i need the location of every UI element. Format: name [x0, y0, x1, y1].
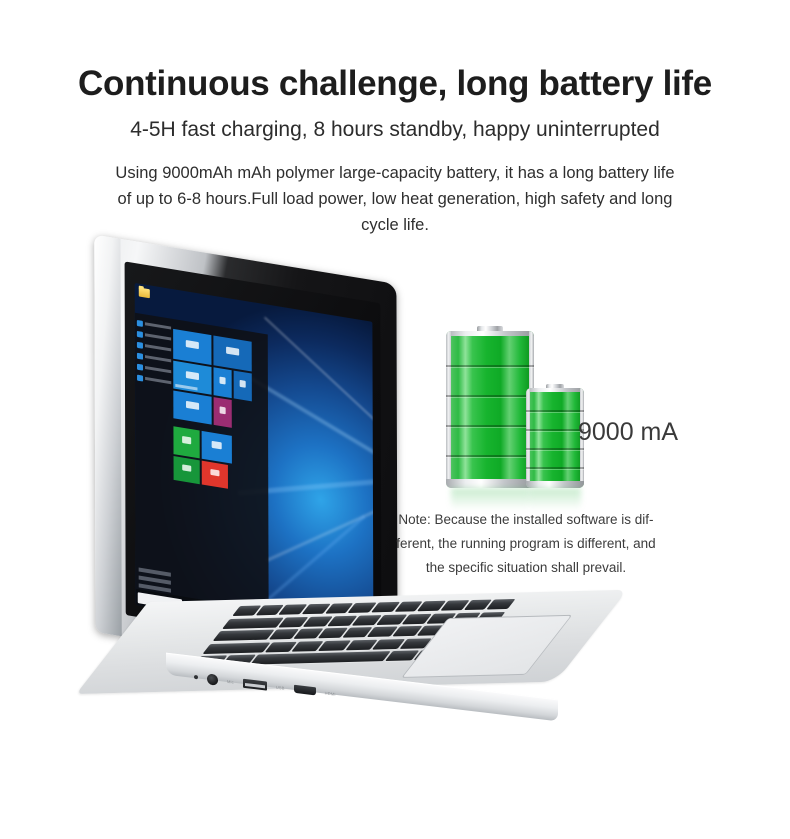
battery-reflection	[529, 488, 580, 510]
power-led-icon	[194, 675, 198, 679]
tile-cyan	[173, 361, 211, 395]
app-icon	[137, 363, 143, 370]
list-item	[137, 374, 171, 387]
app-icon	[137, 319, 143, 326]
laptop-screen	[135, 283, 374, 644]
lid-edge-rim	[94, 235, 121, 637]
tile-magenta	[214, 397, 232, 428]
battery-shell-left	[446, 331, 451, 488]
app-label	[145, 333, 171, 340]
battery-reflection	[451, 488, 528, 510]
key-tab	[222, 617, 284, 628]
app-icon	[137, 330, 143, 337]
battery-shell-left	[526, 388, 530, 488]
battery-segment-divider	[526, 467, 584, 469]
app-icon	[137, 341, 143, 348]
tile-green	[173, 426, 199, 458]
battery-segment-divider	[526, 410, 584, 412]
note-line: the specific situation shall prevail.	[352, 556, 700, 580]
audio-jack-icon	[207, 673, 218, 685]
app-label	[145, 355, 171, 362]
app-icon	[137, 352, 143, 359]
battery-segment-divider	[446, 455, 534, 457]
start-menu	[135, 313, 269, 613]
app-label	[145, 377, 171, 384]
list-item	[137, 319, 171, 332]
audio-jack-label: Mic	[227, 678, 234, 684]
note-line: Note: Because the installed software is …	[352, 508, 700, 532]
battery-segment-divider	[446, 395, 534, 397]
page-title: Continuous challenge, long battery life	[0, 62, 790, 106]
start-menu-app-list	[137, 319, 172, 567]
battery-capacity-label: 9000 mA	[578, 418, 678, 447]
battery-top-band	[526, 388, 584, 392]
battery-graphic: 9000 mA	[432, 318, 772, 518]
tile-blue-small	[213, 367, 231, 398]
battery-segment-divider	[526, 448, 584, 450]
app-label	[145, 366, 171, 373]
battery-base-cap	[446, 479, 534, 488]
disclaimer-note: Note: Because the installed software is …	[352, 508, 700, 580]
battery-segment-divider	[526, 429, 584, 431]
list-item	[137, 330, 171, 343]
key-caps	[213, 630, 275, 641]
tile-blue-4	[202, 431, 232, 464]
list-item	[137, 363, 171, 376]
battery-top-band	[446, 331, 534, 336]
app-label	[145, 344, 171, 351]
hdmi-port-label: HDMI	[325, 690, 336, 696]
key-space	[250, 651, 390, 664]
key-shift	[203, 642, 271, 654]
usb-port-icon	[243, 678, 267, 690]
app-label	[145, 322, 171, 329]
desktop-folder-icon	[139, 288, 150, 299]
start-menu-footer	[139, 564, 171, 593]
battery-large	[446, 326, 534, 488]
tile-blue-small-2	[234, 371, 252, 402]
battery-small	[526, 384, 584, 488]
subtitle: 4-5H fast charging, 8 hours standby, hap…	[0, 115, 790, 145]
list-item	[137, 352, 171, 365]
wallpaper-ray	[265, 515, 365, 601]
app-icon	[137, 374, 143, 381]
start-menu-tiles	[173, 329, 266, 591]
product-banner: Continuous challenge, long battery life …	[0, 0, 790, 839]
battery-body	[446, 331, 534, 488]
tile-green-2	[174, 456, 200, 484]
tile-blue-1	[173, 329, 211, 365]
battery-base-cap	[526, 481, 584, 488]
tile-blue-2	[213, 335, 251, 371]
battery-segment-divider	[446, 425, 534, 427]
hdmi-port-icon	[294, 685, 316, 696]
wallpaper-ray	[264, 317, 374, 430]
description-paragraph: Using 9000mAh mAh polymer large-capacity…	[115, 160, 675, 238]
tile-red	[202, 461, 228, 489]
usb-port-label: USB	[276, 684, 285, 690]
battery-segment-divider	[446, 365, 534, 367]
tile-blue-3	[173, 390, 211, 424]
list-item	[137, 341, 171, 354]
note-line: ferent, the running program is different…	[352, 532, 700, 556]
battery-body	[526, 388, 584, 488]
laptop-base: Mic USB HDMI	[148, 602, 618, 732]
